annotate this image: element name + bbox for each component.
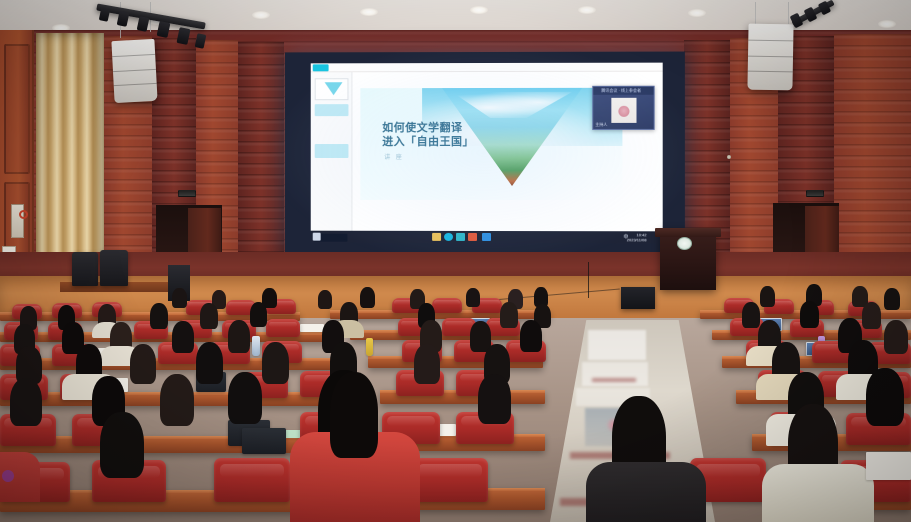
browser-icon[interactable] xyxy=(444,233,453,241)
audience-person-head xyxy=(10,378,42,426)
audience-person-head xyxy=(500,302,518,328)
audience-seat[interactable] xyxy=(214,458,290,502)
audience-person-head xyxy=(800,301,819,328)
powerpoint-accent-button[interactable] xyxy=(313,64,329,71)
audience-person-head xyxy=(160,374,194,426)
lectern[interactable] xyxy=(660,228,716,290)
audience-person-head xyxy=(100,412,144,478)
video-meeting-window[interactable]: 腾讯会议 · 线上参会者 主持人 xyxy=(592,86,654,130)
microphone-stand xyxy=(588,262,589,298)
audience-person-head xyxy=(520,320,542,352)
audience-person-head xyxy=(330,372,378,458)
water-bottle[interactable] xyxy=(366,338,373,356)
speaker-suspension-wire xyxy=(755,2,756,24)
fire-hose-reel-icon xyxy=(19,210,28,219)
projection-screen: 如何使文学翻译 进入「自由王国」 讲 座 腾讯会议 · 线上参会者 主持人 xyxy=(285,52,685,255)
meeting-window-title: 腾讯会议 · 线上参会者 xyxy=(593,87,653,95)
powerpoint-icon[interactable] xyxy=(468,233,477,241)
downlight xyxy=(470,6,488,14)
start-button-icon[interactable] xyxy=(313,233,321,241)
audience-person-head xyxy=(262,342,289,384)
downlight xyxy=(688,9,706,17)
participant-name: 主持人 xyxy=(595,122,607,128)
audience-person-head xyxy=(414,344,440,384)
audience-person-head xyxy=(866,368,904,426)
slide-thumbnail-pane[interactable] xyxy=(311,72,353,231)
downlight xyxy=(360,8,378,16)
floor-reflection xyxy=(588,330,646,360)
slide-thumbnail[interactable] xyxy=(315,104,349,116)
slide-title-line2: 进入「自由王国」 xyxy=(382,136,474,149)
audience-person-head xyxy=(760,286,775,307)
university-crest-icon xyxy=(677,237,692,250)
file-explorer-icon[interactable] xyxy=(432,233,441,241)
line-array-speaker xyxy=(747,24,793,91)
speaker-suspension-wire xyxy=(788,2,789,24)
wall-av-panel[interactable] xyxy=(178,190,196,197)
audience-person-head xyxy=(742,302,760,328)
audience-person-head xyxy=(884,288,900,310)
mail-icon[interactable] xyxy=(456,233,465,241)
audience-person-head xyxy=(466,288,480,307)
current-slide: 如何使文学翻译 进入「自由王国」 讲 座 xyxy=(360,88,622,200)
audience-seat[interactable] xyxy=(432,298,462,313)
wall-av-panel[interactable] xyxy=(806,190,824,197)
slide-thumbnail[interactable] xyxy=(315,78,349,100)
floor-reflection xyxy=(582,362,648,386)
audience-person-accessory xyxy=(2,470,14,482)
audience-person-head xyxy=(318,290,332,309)
audience-person-torso xyxy=(762,464,874,522)
audience-person-head xyxy=(150,303,168,329)
downlight xyxy=(578,6,596,14)
floor-reflection-warm xyxy=(592,378,636,382)
slide-canvas[interactable]: 如何使文学翻译 进入「自由王国」 讲 座 腾讯会议 · 线上参会者 主持人 xyxy=(352,72,662,232)
downlight xyxy=(252,11,270,19)
audience-person-head xyxy=(228,320,250,353)
taskbar-clock-date[interactable]: 2023/11/08 xyxy=(627,237,647,242)
audience-person-head xyxy=(172,321,194,353)
audience-seat[interactable] xyxy=(266,319,300,337)
audience-person-head xyxy=(478,374,511,424)
slide-thumbnail[interactable] xyxy=(315,144,349,158)
windows-taskbar[interactable]: 中 10:42 2023/11/08 xyxy=(311,231,663,244)
audience-seat[interactable] xyxy=(412,458,488,502)
audience-person-head xyxy=(884,320,908,354)
audience-person-head xyxy=(862,302,881,329)
slide-subtitle: 讲 座 xyxy=(384,152,404,161)
door-knob-icon[interactable] xyxy=(727,155,731,159)
projected-desktop: 如何使文学翻译 进入「自由王国」 讲 座 腾讯会议 · 线上参会者 主持人 xyxy=(311,63,663,244)
stage-chair[interactable] xyxy=(72,252,98,286)
meeting-icon[interactable] xyxy=(482,233,491,241)
auditorium-photo: 如何使文学翻译 进入「自由王国」 讲 座 腾讯会议 · 线上参会者 主持人 xyxy=(0,0,911,522)
notebook xyxy=(300,324,324,332)
audience-person-head xyxy=(250,302,267,327)
audience-person-head xyxy=(200,303,218,329)
audience-person-head xyxy=(228,372,262,424)
open-book xyxy=(866,452,911,480)
line-array-speaker xyxy=(111,39,157,103)
tablet[interactable] xyxy=(242,428,286,454)
slide-title: 如何使文学翻译 xyxy=(382,122,462,135)
participant-avatar xyxy=(618,106,629,117)
audience-person-head xyxy=(360,287,375,308)
downlight xyxy=(878,20,896,28)
audience-person-head xyxy=(130,344,156,384)
water-bottle[interactable] xyxy=(252,336,260,356)
audience-person-torso xyxy=(586,462,706,522)
lectern-top xyxy=(655,228,721,237)
left-wall-door-panel[interactable] xyxy=(4,44,30,174)
stage-monitor-speaker xyxy=(621,287,655,309)
audience-person-head xyxy=(172,288,187,308)
audience-person-head xyxy=(196,342,223,384)
participant-video-tile[interactable] xyxy=(611,98,636,123)
stage-chair[interactable] xyxy=(100,250,128,286)
